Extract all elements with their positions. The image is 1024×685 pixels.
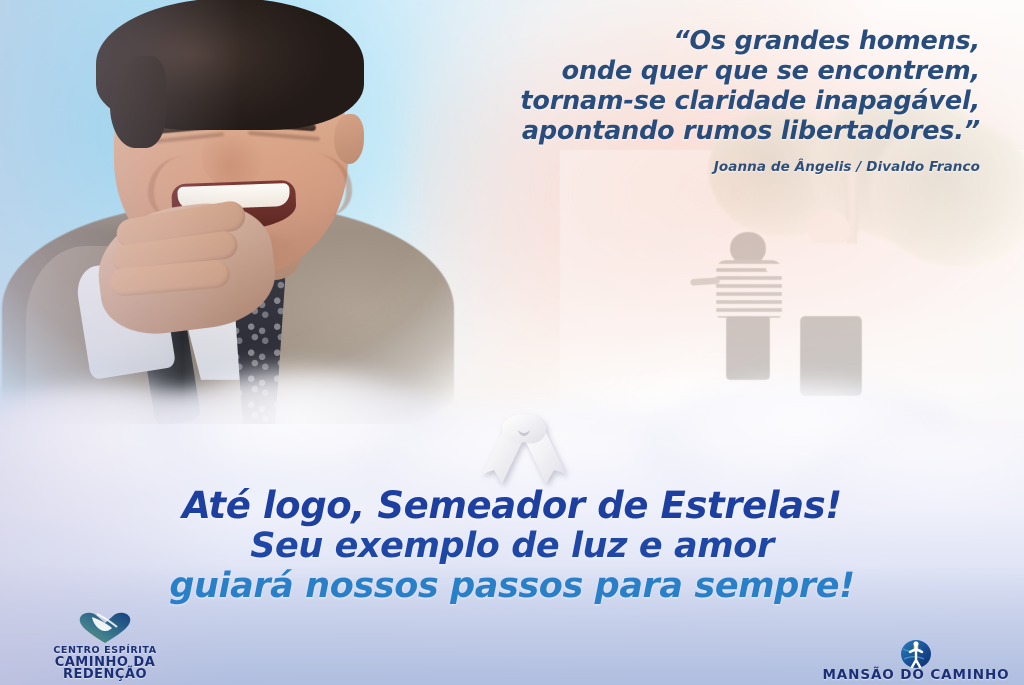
heart-hands-icon [12,609,198,645]
adult-legs [800,316,862,396]
logo-left-line-2: CAMINHO DA REDENÇÃO [12,657,198,681]
headline-line-3: guiará nossos passos para sempre! [0,566,1024,606]
quote-line-4: apontando rumos libertadores.” [360,116,980,146]
background-photo-walking-scene [560,150,1024,420]
photo-fence [892,296,1002,362]
logo-centro-espirita[interactable]: CENTRO ESPÍRITA CAMINHO DA REDENÇÃO [12,609,198,681]
logo-right-line-1: MANSÃO DO CAMINHO [818,669,1014,681]
photo-figure-adult [782,210,878,396]
memorial-poster: “Os grandes homens, onde quer que se enc… [0,0,1024,685]
quote-block: “Os grandes homens, onde quer que se enc… [360,26,980,175]
adult-torso-white-shirt [782,244,878,320]
quote-line-3: tornam-se claridade inapagável, [360,86,980,116]
quote-attribution: Joanna de Ângelis / Divaldo Franco [360,159,980,175]
photo-lamp-post [678,150,688,340]
quote-line-1: “Os grandes homens, [360,26,980,56]
globe-figure-icon [818,633,1014,669]
child-legs [726,316,770,380]
headline-block: Até logo, Semeador de Estrelas! Seu exem… [0,486,1024,606]
quote-line-2: onde quer que se encontrem, [360,56,980,86]
logo-mansao-do-caminho[interactable]: MANSÃO DO CAMINHO [818,633,1014,681]
headline-line-1: Até logo, Semeador de Estrelas! [0,486,1024,526]
mourning-ribbon-icon [476,408,572,488]
photo-figure-child [712,232,786,380]
headline-line-2: Seu exemplo de luz e amor [0,526,1024,566]
